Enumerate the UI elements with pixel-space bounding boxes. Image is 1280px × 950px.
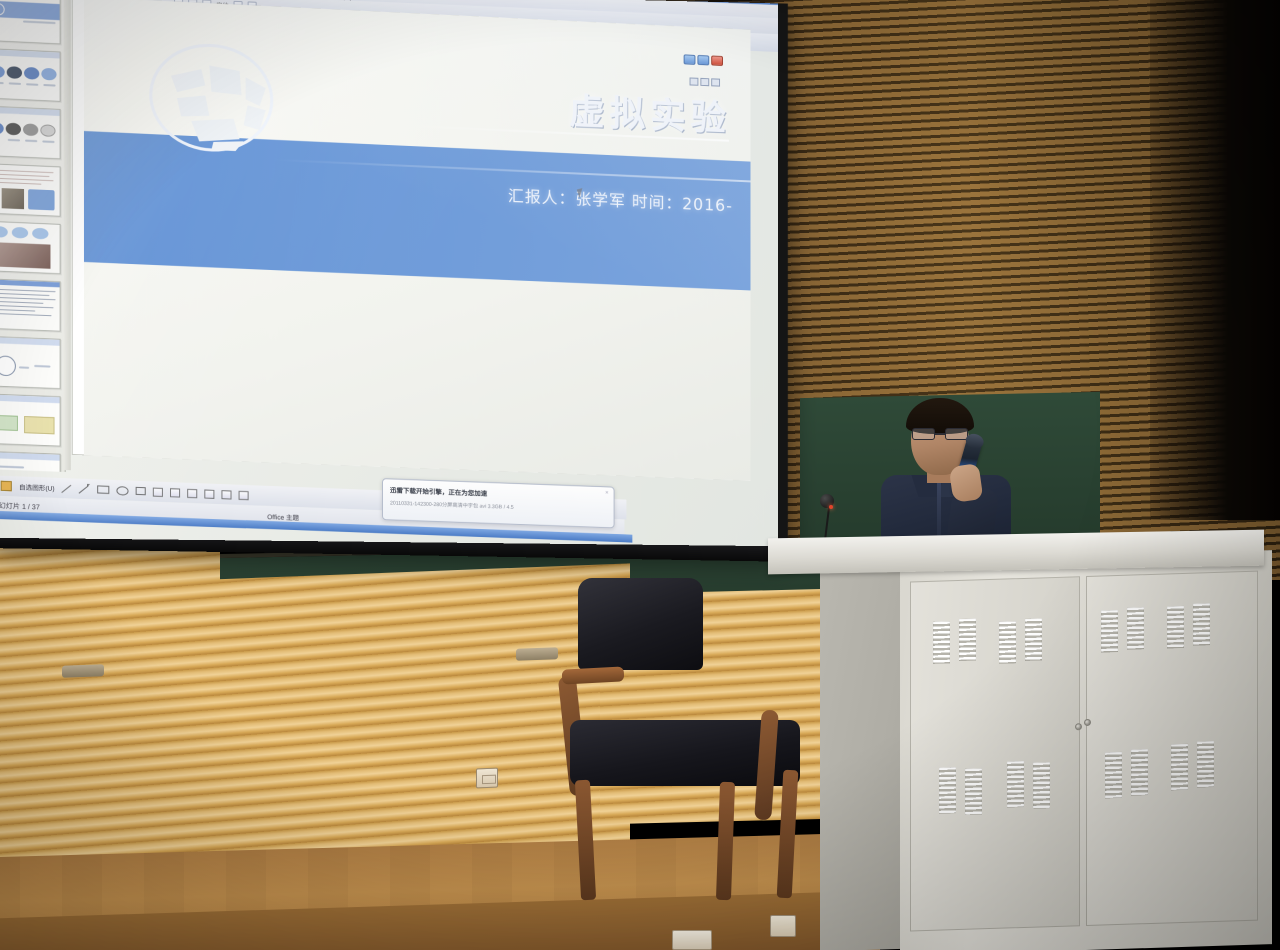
picture-tool-icon[interactable] <box>204 489 214 498</box>
glasses-icon <box>911 428 969 440</box>
diagram-tool-icon[interactable] <box>170 488 180 497</box>
wall-outlet <box>476 768 498 789</box>
thumbnail-pane-scrollbar[interactable] <box>64 0 71 470</box>
wall-panel-left <box>0 563 630 878</box>
powerpoint-window[interactable]: 100% 插入(I) 格式(O) 幻灯片放映(D) 窗口(W) 帮助(H) 宋体… <box>0 0 778 546</box>
cabinet-door-right[interactable] <box>1086 571 1258 926</box>
window-controls[interactable] <box>684 54 723 66</box>
cabinet-door-left[interactable] <box>910 576 1080 931</box>
text-box-tool-icon[interactable] <box>136 487 146 495</box>
list-item[interactable]: 9 <box>0 451 61 472</box>
slide-thumbnail-pane[interactable]: 1 2 <box>0 0 66 472</box>
arrow-tool-icon[interactable] <box>79 484 90 494</box>
projection-screen: 100% 插入(I) 格式(O) 幻灯片放映(D) 窗口(W) 帮助(H) 宋体… <box>0 0 778 546</box>
doc-restore-button[interactable] <box>700 78 709 86</box>
chair <box>560 570 850 910</box>
wordart-tool-icon[interactable] <box>153 487 163 496</box>
presenter-hand <box>949 463 984 503</box>
chair-leg <box>716 782 735 900</box>
right-wall-shadow <box>1150 0 1280 520</box>
microphone-led-icon <box>829 505 833 509</box>
list-item[interactable]: 2 <box>0 48 61 102</box>
list-item[interactable]: 5 <box>0 221 61 275</box>
cabinet-lock-left[interactable] <box>1075 723 1082 730</box>
download-toast[interactable]: 迅雷下载开始引擎，正在为您加速 20110331-142300-280分屏高清中… <box>382 478 615 528</box>
toast-close-icon[interactable]: × <box>605 490 608 496</box>
floor-outlet-c <box>672 930 712 950</box>
oval-tool-icon[interactable] <box>116 486 128 496</box>
restore-button[interactable] <box>697 55 709 65</box>
soccer-ball-logo-icon <box>147 38 276 157</box>
chair-leg <box>575 780 596 901</box>
slide-1: 虚拟实验 汇报人：张学军 时间：2016- <box>84 0 751 481</box>
lectern-cabinet <box>900 550 1272 950</box>
floor-outlet-b <box>770 915 796 937</box>
lectern-side-panel <box>820 565 910 950</box>
autoshapes-button[interactable]: 自选图形(U) <box>19 481 55 492</box>
fill-color-icon[interactable] <box>221 490 231 499</box>
toast-detail: 20110331-142300-280分屏高清中字包 avi 3.3GB / 4… <box>390 499 607 514</box>
list-item[interactable]: 4 <box>0 163 61 217</box>
line-color-icon[interactable] <box>239 490 249 499</box>
list-item[interactable]: 6 <box>0 278 61 331</box>
document-window-controls[interactable] <box>690 77 720 86</box>
lecture-hall-scene: 100% 插入(I) 格式(O) 幻灯片放映(D) 窗口(W) 帮助(H) 宋体… <box>0 0 1280 950</box>
doc-minimize-button[interactable] <box>690 77 699 85</box>
theme-name: Office 主题 <box>267 510 299 521</box>
slide-canvas[interactable]: 虚拟实验 汇报人：张学军 时间：2016- <box>72 0 751 481</box>
wall-bracket <box>516 647 558 660</box>
list-item[interactable]: 8 <box>0 393 61 446</box>
chair-leg <box>777 770 799 899</box>
slide-title: 虚拟实验 <box>569 83 731 142</box>
minimize-button[interactable] <box>684 54 696 64</box>
list-item[interactable]: 3 <box>0 106 61 160</box>
draw-menu-icon[interactable] <box>1 481 12 492</box>
chair-backrest <box>578 578 703 670</box>
wall-bracket <box>62 664 104 677</box>
list-item[interactable]: 7 <box>0 336 61 389</box>
list-item[interactable]: 1 <box>0 0 61 44</box>
cabinet-lock-right[interactable] <box>1084 719 1091 726</box>
line-tool-icon[interactable] <box>62 483 72 493</box>
chair-armrest-top <box>562 666 625 684</box>
doc-close-button[interactable] <box>711 78 720 86</box>
clip-art-tool-icon[interactable] <box>187 488 197 497</box>
close-button[interactable] <box>711 56 723 66</box>
rectangle-tool-icon[interactable] <box>97 485 109 494</box>
